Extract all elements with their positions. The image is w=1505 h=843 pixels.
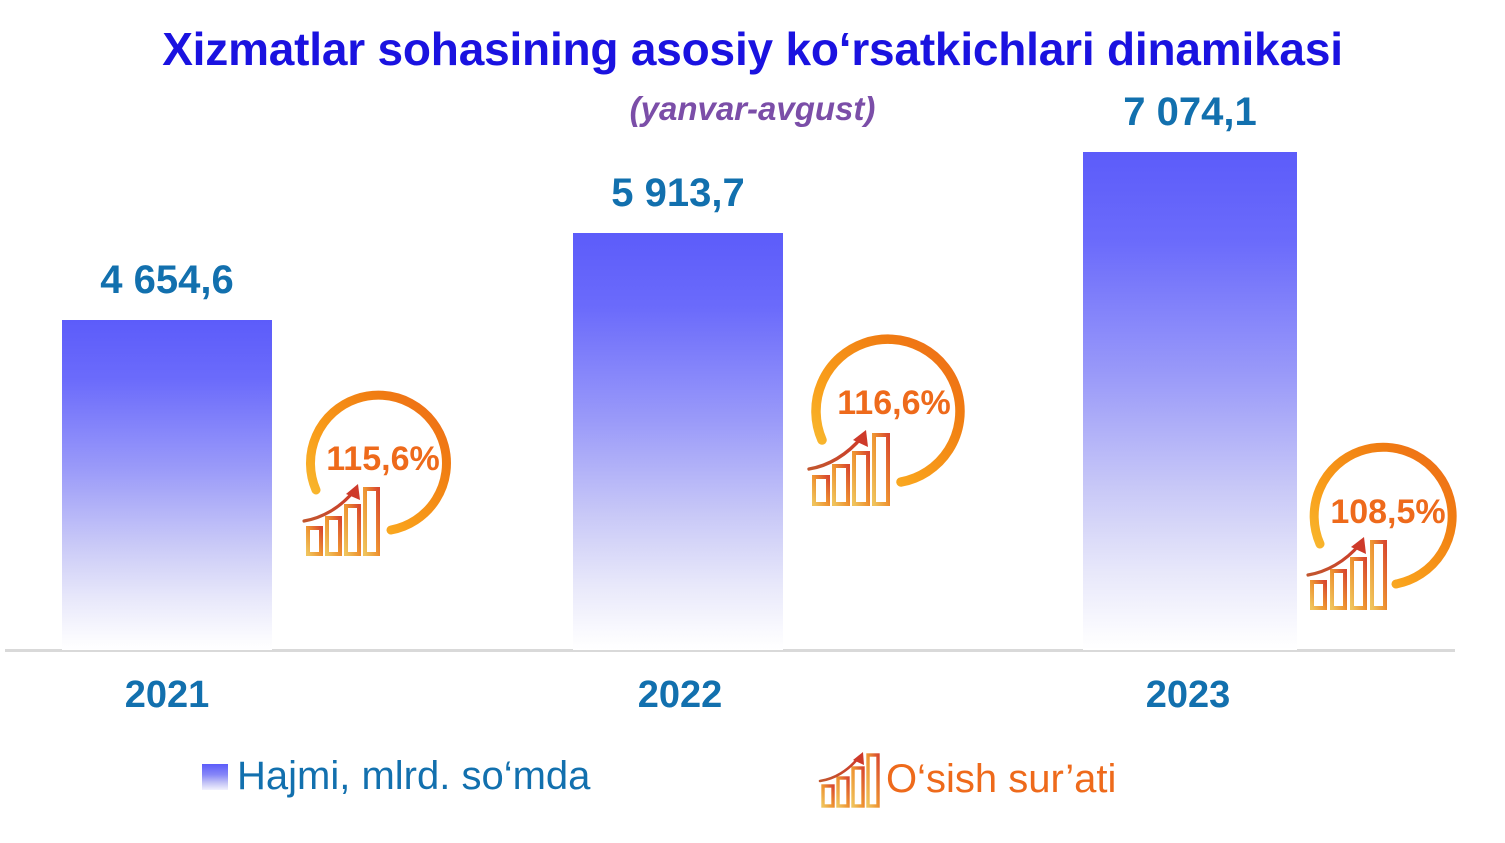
bar-value-2023: 7 074,1 [1065, 90, 1315, 135]
category-label-2023: 2023 [1063, 674, 1313, 717]
growth-badge-2022: 116,6% [800, 300, 982, 505]
chart-legend: Hajmi, mlrd. so‘mda [0, 750, 1505, 810]
legend-label-volume: Hajmi, mlrd. so‘mda [237, 754, 590, 799]
growth-value-2022: 116,6% [803, 384, 985, 423]
bar-value-2022: 5 913,7 [553, 171, 803, 216]
page-title: Xizmatlar sohasining asosiy ko‘rsatkichl… [0, 22, 1505, 76]
growth-value-2023: 108,5% [1302, 493, 1474, 532]
bar-2022 [573, 233, 783, 650]
growth-value-2021: 115,6% [298, 440, 468, 479]
category-label-2022: 2022 [555, 674, 805, 717]
bar-2023 [1083, 152, 1297, 650]
legend-item-volume[interactable]: Hajmi, mlrd. so‘mda [202, 754, 590, 799]
bar-value-2021: 4 654,6 [42, 258, 292, 303]
bar-2021 [62, 320, 272, 650]
legend-label-growth: O‘sish sur’ati [886, 757, 1116, 802]
growth-bars-arrow-icon [818, 750, 880, 808]
legend-item-growth[interactable]: O‘sish sur’ati [818, 750, 1116, 808]
growth-badge-2021: 115,6% [296, 358, 466, 558]
legend-swatch-icon [202, 764, 228, 790]
growth-badge-2023: 108,5% [1300, 410, 1472, 610]
chart-slide: Xizmatlar sohasining asosiy ko‘rsatkichl… [0, 0, 1505, 843]
category-label-2021: 2021 [42, 674, 292, 717]
